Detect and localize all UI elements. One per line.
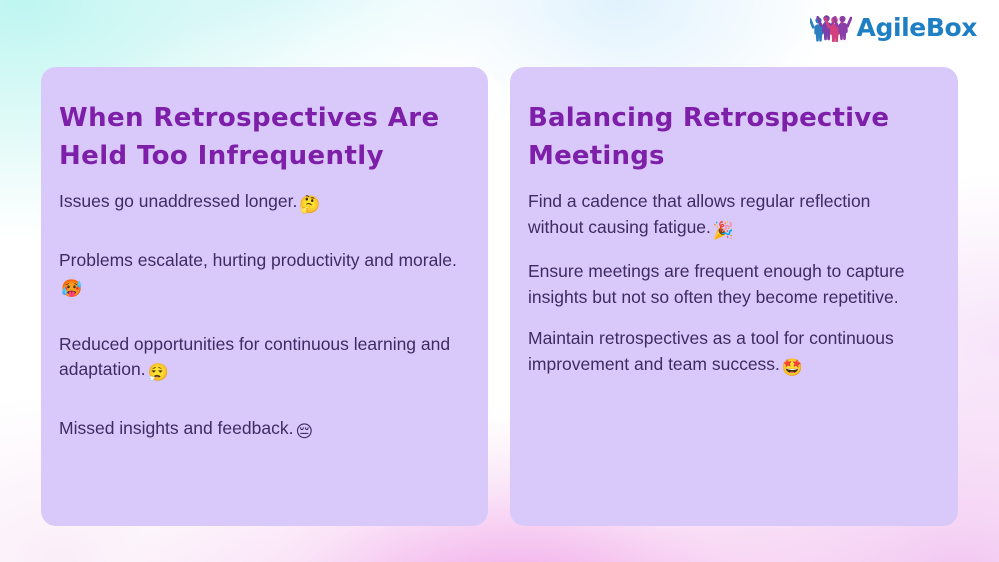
list-item-text: Ensure meetings are frequent enough to c… xyxy=(528,261,905,306)
list-item-text: Maintain retrospectives as a tool for co… xyxy=(528,328,894,373)
pensive-face-emoji: 😔 xyxy=(295,420,313,445)
list-item-text: Missed insights and feedback. xyxy=(59,418,293,438)
card-balancing-retrospective-meetings: Balancing Retrospective Meetings Find a … xyxy=(510,67,958,526)
list-item: Missed insights and feedback.😔 xyxy=(59,416,458,445)
brand-name-agile: Agile xyxy=(857,13,926,42)
card-title: Balancing Retrospective Meetings xyxy=(528,100,928,175)
list-item-text: Find a cadence that allows regular refle… xyxy=(528,191,870,236)
face-exhaling-emoji: 😮‍💨 xyxy=(148,361,169,386)
brand-name-box: Box xyxy=(926,13,977,42)
list-item-text: Reduced opportunities for continuous lea… xyxy=(59,334,450,379)
list-item: Find a cadence that allows regular refle… xyxy=(528,189,928,243)
agilebox-logo[interactable]: AgileBox xyxy=(810,12,978,42)
list-item-text: Issues go unaddressed longer. xyxy=(59,191,297,211)
star-struck-emoji: 🤩 xyxy=(782,356,803,381)
hot-face-emoji: 🥵 xyxy=(61,277,82,302)
list-item: Problems escalate, hurting productivity … xyxy=(59,248,458,302)
list-item: Issues go unaddressed longer.🤔 xyxy=(59,189,458,218)
list-item: Ensure meetings are frequent enough to c… xyxy=(528,259,928,310)
card-title: When Retrospectives Are Held Too Infrequ… xyxy=(59,100,458,175)
slide-canvas: AgileBox When Retrospectives Are Held To… xyxy=(0,0,999,562)
brand-wordmark: AgileBox xyxy=(857,15,978,40)
thinking-face-emoji: 🤔 xyxy=(299,193,320,218)
card-body: Issues go unaddressed longer.🤔 Problems … xyxy=(59,189,458,444)
list-item: Maintain retrospectives as a tool for co… xyxy=(528,326,928,380)
list-item-text: Problems escalate, hurting productivity … xyxy=(59,250,457,270)
party-popper-emoji: 🎉 xyxy=(713,219,734,244)
card-body: Find a cadence that allows regular refle… xyxy=(528,189,928,380)
list-item: Reduced opportunities for continuous lea… xyxy=(59,332,458,386)
four-people-raised-arms-icon xyxy=(810,12,852,42)
card-retrospectives-too-infrequent: When Retrospectives Are Held Too Infrequ… xyxy=(41,67,488,526)
